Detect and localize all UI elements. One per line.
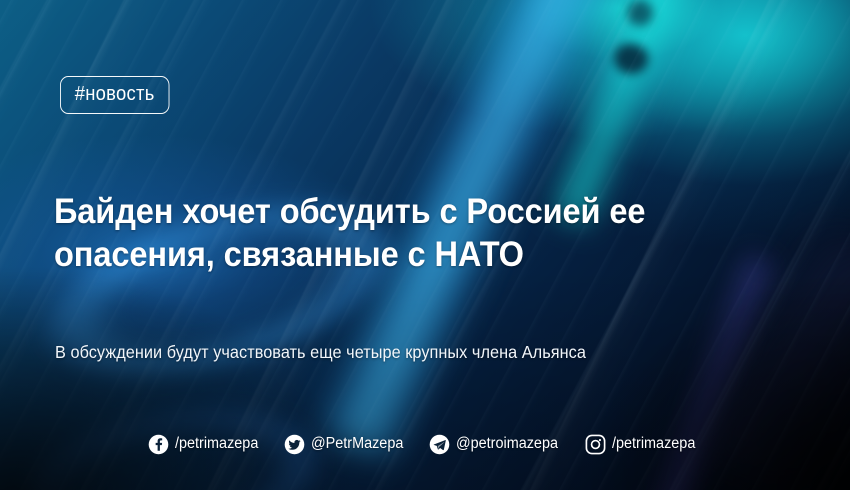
social-link-instagram[interactable]: /petrimazepa [585,434,702,455]
category-badge[interactable]: #новость [60,76,169,114]
social-link-facebook[interactable]: /petrimazepa [148,434,265,455]
social-handle: /petrimazepa [612,436,695,453]
facebook-icon [148,434,169,455]
social-link-twitter[interactable]: @PetrMazepa [284,434,410,455]
card-content: #новость Байден хочет обсудить с Россией… [0,0,850,490]
social-handle: /petrimazepa [175,436,258,453]
page-title: Байден хочет обсудить с Россией ее опасе… [54,190,742,277]
social-link-telegram[interactable]: @petroimazepa [429,434,566,455]
news-card: #новость Байден хочет обсудить с Россией… [0,0,850,490]
twitter-icon [284,434,305,455]
instagram-icon [585,434,606,455]
subtitle: В обсуждении будут участвовать еще четыр… [55,341,725,364]
social-handle: @petroimazepa [456,436,558,453]
telegram-icon [429,434,450,455]
social-links: /petrimazepa @PetrMazepa [0,434,850,455]
social-handle: @PetrMazepa [311,436,403,453]
